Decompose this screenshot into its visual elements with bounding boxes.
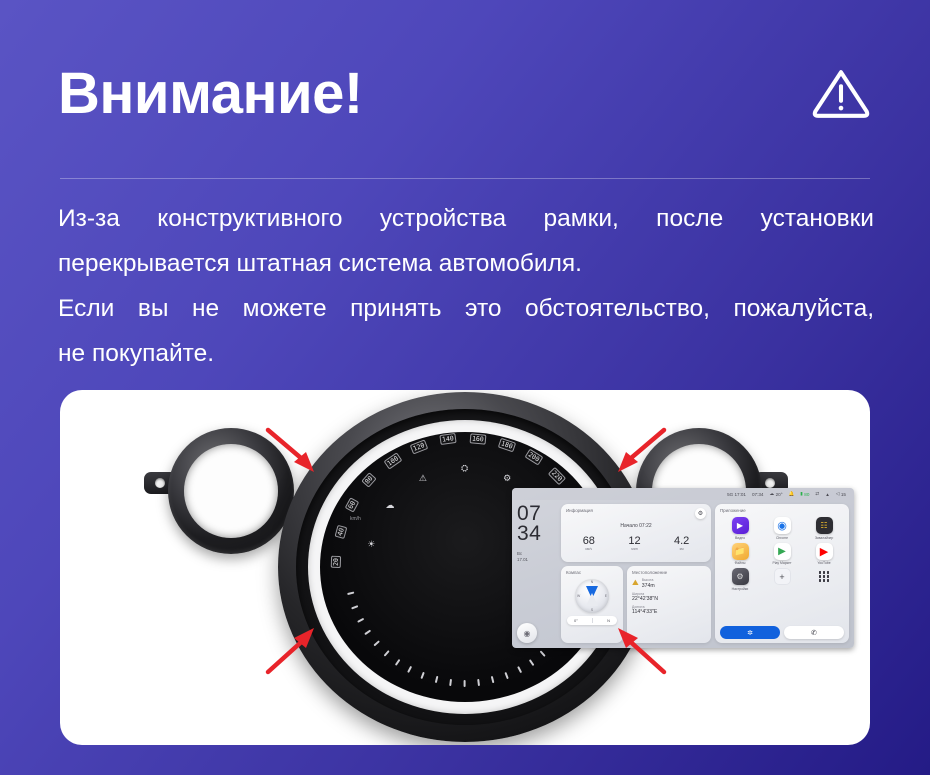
dial-tick xyxy=(357,618,364,623)
speedometer-numeral: 60 xyxy=(344,497,358,512)
info-widget-title: Информация xyxy=(566,508,706,513)
longitude-row: Долгота 114°4'33"E xyxy=(632,605,706,615)
app-drawer-icon[interactable] xyxy=(816,568,833,585)
stat-unit: мин xyxy=(628,547,640,551)
quick-actions: ✲ ✆ xyxy=(720,626,844,639)
status-weather: 20° xyxy=(776,492,783,497)
dial-tick xyxy=(395,659,400,666)
dial-tick xyxy=(505,672,509,679)
compass-orb-icon[interactable]: ◉ xyxy=(517,623,537,643)
dial-tick xyxy=(384,650,390,656)
app-tile[interactable]: ☷Эквалайзер xyxy=(804,517,844,540)
mountain-icon: ⛰ xyxy=(632,578,639,588)
altitude-value: 374m xyxy=(642,583,655,589)
longitude-value: 114°4'33"E xyxy=(632,609,706,615)
compass-label-n: N xyxy=(591,580,593,584)
speedometer-numeral: 200 xyxy=(524,449,543,466)
seatbelt-icon: ⛭ xyxy=(461,464,468,473)
compass-widget[interactable]: Компас N S W E 0° xyxy=(561,566,623,643)
clock-hours: 07 xyxy=(517,504,557,524)
weather-icon: ☁ 20° xyxy=(769,491,782,497)
home-screen: 07 34 Вс 17.01 ◉ Информация ⚙ На xyxy=(512,500,854,648)
app-label: Настройки xyxy=(732,587,749,591)
app-label: Chrome xyxy=(776,536,788,540)
speedometer-numeral: 140 xyxy=(440,433,457,445)
app-label: Эквалайзер xyxy=(815,536,834,540)
bell-icon: 🔔 xyxy=(789,491,795,497)
dial-tick xyxy=(450,679,452,686)
app-tile[interactable]: ▶Видео xyxy=(720,517,760,540)
app-tile[interactable] xyxy=(804,568,844,591)
battery-icon: ▮ 80 xyxy=(800,491,809,497)
compass-dial: N S W E xyxy=(575,579,609,613)
settings-icon[interactable]: ⚙ xyxy=(732,568,749,585)
center-bezel-ring: km/h 20406080100120140160180200220240260… xyxy=(278,392,652,742)
folder-icon[interactable]: 📁 xyxy=(732,543,749,560)
app-tile[interactable]: 📁Файлы xyxy=(720,543,760,566)
dial-tick xyxy=(374,640,380,646)
apps-widget: Приложение ▶Видео◉Chrome☷Эквалайзер📁Файл… xyxy=(715,504,849,643)
stat-unit: км/ч xyxy=(583,547,595,551)
plus-icon[interactable]: + xyxy=(774,568,791,585)
dial-tick xyxy=(529,659,534,666)
gear-icon[interactable]: ⚙ xyxy=(695,508,706,519)
app-label: YouTube xyxy=(817,561,830,565)
dial-tick xyxy=(351,605,358,609)
app-tile[interactable]: ▶YouTube xyxy=(804,543,844,566)
dash-frame-assembly: km/h 20406080100120140160180200220240260… xyxy=(60,390,870,745)
dial-tick xyxy=(435,676,438,683)
sync-icon: ⇄ xyxy=(815,491,819,497)
status-volume: 15 xyxy=(841,492,846,497)
dial-tick xyxy=(492,676,495,683)
stat-value: 68 xyxy=(583,535,595,547)
speedometer-numeral: 80 xyxy=(361,473,376,488)
bluetooth-icon[interactable]: ✲ xyxy=(720,626,780,639)
clock-date: 17.01 xyxy=(517,557,557,563)
warning-text-line-4: не покупайте. xyxy=(58,331,874,376)
divider xyxy=(592,618,593,623)
compass-degrees: 0° xyxy=(574,618,578,623)
status-bar: 5G 17:01 07:34 ☁ 20° 🔔 ▮ 80 ⇄ ▲ ◁ 15 xyxy=(512,488,854,500)
chrome-icon[interactable]: ◉ xyxy=(774,517,791,534)
speedometer-numeral: 40 xyxy=(334,525,347,539)
speedometer-numeral: 220 xyxy=(548,467,566,485)
app-label: Видео xyxy=(735,536,745,540)
warning-text-line-3: Если вы не можете принять это обстоятель… xyxy=(58,286,874,331)
location-widget-title: Местоположение xyxy=(632,570,706,575)
warning-text-line-2: перекрывается штатная система автомобиля… xyxy=(58,241,874,286)
trip-start-label: Начало 07:22 xyxy=(566,523,706,529)
dial-tick xyxy=(408,666,413,673)
compass-readout: 0° N xyxy=(567,616,617,625)
wifi-icon: ▲ xyxy=(825,492,830,497)
door-open-icon: ⚠ xyxy=(419,474,427,483)
widget-column-middle: Информация ⚙ Начало 07:22 68 км/ч 12 xyxy=(561,504,711,643)
dial-tick xyxy=(347,592,354,595)
compass-direction: N xyxy=(607,618,610,623)
dial-tick xyxy=(464,680,466,687)
app-tile[interactable]: ◉Chrome xyxy=(762,517,802,540)
compass-label-s: S xyxy=(591,608,593,612)
header: Внимание! xyxy=(58,52,872,136)
head-unit-screen[interactable]: 5G 17:01 07:34 ☁ 20° 🔔 ▮ 80 ⇄ ▲ ◁ 15 xyxy=(512,488,854,648)
status-time: 07:34 xyxy=(752,492,764,497)
dial-tick xyxy=(540,650,546,656)
speedometer-numeral: 160 xyxy=(469,433,486,444)
trip-stat-time: 12 мин xyxy=(628,535,640,551)
play-store-icon[interactable]: ▶ xyxy=(774,543,791,560)
app-label: Play Маркет xyxy=(772,561,791,565)
warning-text-line-1: Из-за конструктивного устройства рамки, … xyxy=(58,196,874,241)
speedometer-numeral: 180 xyxy=(498,437,516,452)
status-signal: 5G 17:01 xyxy=(727,492,746,497)
warning-triangle-icon xyxy=(810,63,872,125)
apps-widget-title: Приложение xyxy=(720,508,844,513)
header-divider xyxy=(60,178,870,179)
latitude-value: 22°42'38"N xyxy=(632,596,706,602)
compass-label-w: W xyxy=(577,594,580,598)
app-tile[interactable]: ⚙Настройки xyxy=(720,568,760,591)
clock-widget[interactable]: 07 34 Вс 17.01 ◉ xyxy=(517,504,557,643)
latitude-row: Широта 22°42'38"N xyxy=(632,592,706,602)
trip-stat-speed: 68 км/ч xyxy=(583,535,595,551)
volume-icon: ◁ 15 xyxy=(836,491,846,497)
phone-icon[interactable]: ✆ xyxy=(784,626,844,639)
widget-column-right: Приложение ▶Видео◉Chrome☷Эквалайзер📁Файл… xyxy=(715,504,849,643)
speedometer-numeral: 100 xyxy=(384,452,403,469)
page-title: Внимание! xyxy=(58,65,363,123)
dial-tick xyxy=(478,679,480,686)
video-icon[interactable]: ▶ xyxy=(732,517,749,534)
widget-row: Компас N S W E 0° xyxy=(561,566,711,643)
status-battery: 80 xyxy=(804,492,809,497)
altitude-label: Высота xyxy=(642,578,654,582)
location-widget[interactable]: Местоположение ⛰ Высота 374m Широта xyxy=(627,566,711,643)
speedometer-numeral: 20 xyxy=(331,555,341,567)
warning-text: Из-за конструктивного устройства рамки, … xyxy=(58,196,874,376)
compass-widget-title: Компас xyxy=(566,570,581,575)
dial-tick xyxy=(365,630,372,635)
equalizer-icon[interactable]: ☷ xyxy=(816,517,833,534)
stat-value: 12 xyxy=(628,535,640,547)
engine-icon: ⚙ xyxy=(503,474,511,483)
info-widget[interactable]: Информация ⚙ Начало 07:22 68 км/ч 12 xyxy=(561,504,711,562)
left-gauge-pod xyxy=(168,428,294,554)
clock-minutes: 34 xyxy=(517,524,557,544)
compass-label-e: E xyxy=(605,594,607,598)
compass-needle-south xyxy=(586,593,598,606)
trip-stat-distance: 4.2 км xyxy=(674,535,689,551)
product-image-card: km/h 20406080100120140160180200220240260… xyxy=(60,390,870,745)
stat-unit: км xyxy=(674,547,689,551)
fog-lamp-icon: ☁ xyxy=(385,501,394,510)
app-tile[interactable]: ▶Play Маркет xyxy=(762,543,802,566)
app-tile[interactable]: + xyxy=(762,568,802,591)
dial-tick xyxy=(421,672,425,679)
stat-value: 4.2 xyxy=(674,535,689,547)
speedometer-numeral: 120 xyxy=(410,439,428,454)
headlight-icon: ☀ xyxy=(367,540,375,549)
dial-unit-label: km/h xyxy=(350,516,361,522)
altitude-row: ⛰ Высота 374m xyxy=(632,577,706,589)
trip-stats: 68 км/ч 12 мин 4.2 км xyxy=(566,535,706,551)
dial-tick xyxy=(517,666,522,673)
app-label: Файлы xyxy=(735,561,746,565)
youtube-icon[interactable]: ▶ xyxy=(816,543,833,560)
apps-grid: ▶Видео◉Chrome☷Эквалайзер📁Файлы▶Play Марк… xyxy=(720,517,844,591)
